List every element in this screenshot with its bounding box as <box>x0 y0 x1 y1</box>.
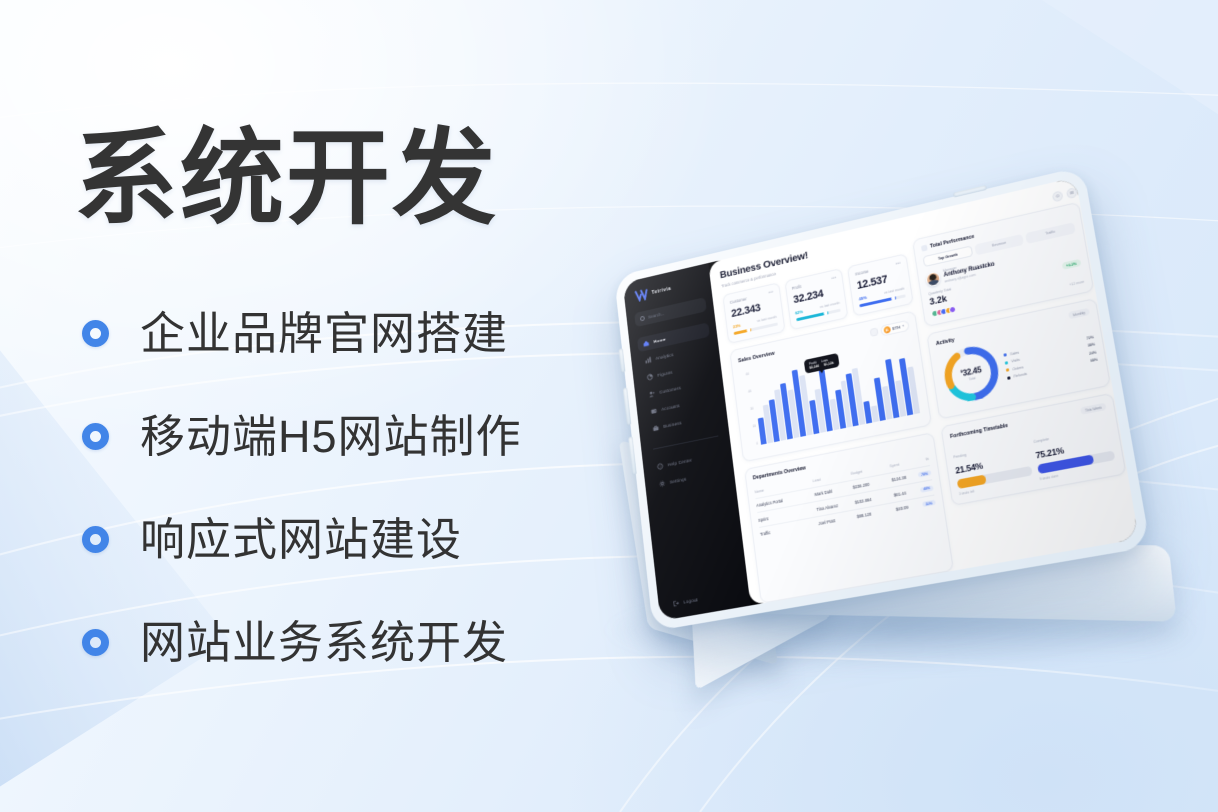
tooltip-value-2: $1,12k <box>824 361 834 367</box>
page-title: 系统开发 <box>74 124 498 234</box>
currency-label: ETH <box>892 324 901 331</box>
kpi-note: vs last month <box>820 301 840 309</box>
list-item-label: 响应式网站建设 <box>140 517 462 562</box>
column-header: % <box>914 457 929 464</box>
column-header: Spent <box>889 460 914 469</box>
kpi-label: Customer <box>729 296 747 305</box>
dept-budget: $88.120 <box>857 507 897 519</box>
y-tick: 30 <box>744 406 754 412</box>
kpi-percent: 23% <box>733 322 741 328</box>
list-item-label: 企业品牌官网搭建 <box>140 311 508 356</box>
activity-legend-values: 72% 38% 24% 08% <box>1086 335 1098 364</box>
activity-donut-chart: $32.45 Total <box>937 338 1006 410</box>
chevron-down-icon: ▾ <box>902 324 904 328</box>
kpi-note: vs last month <box>757 315 777 323</box>
brand-name: Tetrivia <box>651 286 671 296</box>
bullet-ring-icon <box>82 320 109 347</box>
tablet-screen: Tetrivia Search... Home <box>623 177 1139 621</box>
sidebar-item-label: Customers <box>659 385 681 394</box>
timetable-column-complete: Complete 75.21% 9 tasks done <box>1032 415 1117 481</box>
legend-value: 38% <box>1087 342 1095 348</box>
performance-icon <box>921 245 928 252</box>
top-button[interactable] <box>953 185 987 198</box>
sidebar-item-label: Business <box>663 420 682 429</box>
search-input[interactable]: Search... <box>634 297 707 327</box>
legend-label: Orders <box>1012 365 1024 371</box>
list-item: 网站业务系统开发 <box>82 609 602 675</box>
kpi-card-profit[interactable]: Profit ••• 32.234 62% vs last month <box>784 267 849 330</box>
feature-list: 企业品牌官网搭建 移动端H5网站制作 响应式网站建设 网站业务系统开发 <box>82 300 602 712</box>
dept-spent: $40.09 <box>896 502 922 512</box>
pie-icon <box>647 373 654 381</box>
list-item: 移动端H5网站制作 <box>82 403 602 469</box>
search-icon <box>640 316 645 322</box>
sidebar-divider <box>653 435 718 449</box>
sidebar-item-label: Home <box>653 337 666 344</box>
activity-legend: Sales Visits Orders Refunds <box>1003 337 1086 380</box>
dashboard-content: Business Overview! Track commerce & perf… <box>708 177 1139 605</box>
y-tick: 0 <box>748 441 758 447</box>
more-icon[interactable]: ••• <box>768 291 773 294</box>
currency-selector[interactable]: Ƀ ETH ▾ <box>880 320 909 337</box>
y-tick: 15 <box>746 424 756 430</box>
performance-title: Total Performance <box>930 234 975 250</box>
users-icon <box>648 390 655 398</box>
kpi-label: Profit <box>791 284 801 291</box>
dept-pct: 31% <box>922 500 936 507</box>
list-item: 响应式网站建设 <box>82 506 602 572</box>
timetable-caption: Complete <box>1033 437 1049 444</box>
dept-spent: $124.38 <box>891 473 917 483</box>
kpi-percent: 45% <box>858 294 867 301</box>
sales-title: Sales Overview <box>738 351 775 365</box>
sidebar-item-label: Settings <box>670 477 687 485</box>
departments-overview-card: Departments Overview Name Lead Budget Sp… <box>744 432 954 604</box>
sidebar-item-label: Accounts <box>661 403 680 412</box>
notifications-button[interactable]: ⊙ <box>1052 190 1064 202</box>
team-more-label[interactable]: +12 more <box>1069 279 1085 286</box>
bullet-ring-icon <box>82 423 109 450</box>
legend-value: 72% <box>1086 335 1094 341</box>
volume-up-button[interactable] <box>623 387 632 426</box>
wallet-icon <box>650 407 657 415</box>
w-logo-icon <box>634 288 648 303</box>
briefcase-icon <box>652 424 659 432</box>
status-badge: +4.2% <box>1061 259 1081 270</box>
activity-period-selector[interactable]: Monthly <box>1068 308 1090 319</box>
y-tick: 45 <box>742 389 752 395</box>
dept-pct: 45% <box>920 485 933 492</box>
team-avatars[interactable] <box>931 306 954 318</box>
sidebar-item-label: Figures <box>657 370 672 378</box>
kpi-card-customer[interactable]: Customer ••• 22.343 23% vs last month <box>722 282 785 344</box>
tooltip-value-1: $2,240 <box>809 364 819 370</box>
more-icon[interactable]: ••• <box>895 262 900 266</box>
more-icon[interactable]: ••• <box>831 277 836 280</box>
legend-value: 08% <box>1090 358 1098 364</box>
bullet-ring-icon <box>82 526 109 553</box>
kpi-label: Income <box>855 268 869 276</box>
legend-label: Visits <box>1011 358 1020 364</box>
search-placeholder: Search... <box>648 311 665 319</box>
sidebar-item-label: Help Center <box>668 458 693 468</box>
kpi-card-income[interactable]: Income ••• 12.537 45% vs last month <box>847 253 913 317</box>
coin-icon: Ƀ <box>883 326 891 334</box>
y-tick: 60 <box>740 372 750 378</box>
kpi-note: vs last month <box>884 287 905 295</box>
kpi-percent: 62% <box>795 309 803 315</box>
legend-label: Refunds <box>1013 372 1027 379</box>
bullet-ring-icon <box>82 629 109 656</box>
power-button[interactable] <box>618 348 625 373</box>
list-item-label: 移动端H5网站制作 <box>140 414 522 459</box>
timetable-period-selector[interactable]: This Week <box>1080 403 1106 415</box>
legend-label: Sales <box>1010 350 1020 356</box>
home-icon <box>643 339 650 347</box>
chart-icon <box>645 356 652 364</box>
tablet-mockup: Tetrivia Search... Home <box>588 200 1208 650</box>
avatar <box>925 270 941 287</box>
list-item-label: 网站业务系统开发 <box>140 620 508 665</box>
list-item: 企业品牌官网搭建 <box>82 300 602 366</box>
donut-center-sub: Total <box>968 376 975 381</box>
promo-panel: 系统开发 企业品牌官网搭建 移动端H5网站制作 响应式网站建设 网站业务系统开发 <box>0 0 620 812</box>
filter-button[interactable] <box>870 328 879 337</box>
legend-value: 24% <box>1089 350 1097 356</box>
dept-spent: $61.44 <box>893 488 919 498</box>
dept-pct: 78% <box>918 470 931 477</box>
sidebar-item-label: Analytics <box>655 352 673 361</box>
timetable-column-pending: Pending 21.54% 3 tasks left <box>952 431 1034 496</box>
timetable-caption: Pending <box>953 453 967 460</box>
activity-title: Activity <box>936 337 955 347</box>
calendar-button[interactable]: ⊞ <box>1066 187 1078 199</box>
